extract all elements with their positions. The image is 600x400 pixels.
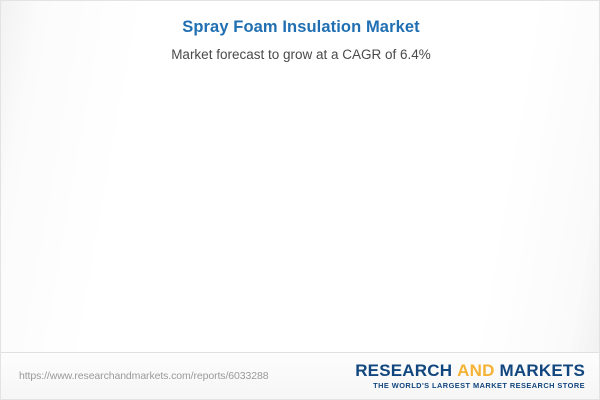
logo-tagline: THE WORLD'S LARGEST MARKET RESEARCH STOR…: [355, 381, 585, 391]
logo-word-and: AND: [457, 361, 494, 380]
logo-word-markets: MARKETS: [500, 361, 585, 380]
logo-word-research: RESEARCH: [355, 361, 452, 380]
research-and-markets-logo[interactable]: RESEARCH AND MARKETS THE WORLD'S LARGEST…: [355, 361, 585, 391]
chart-plot-area: USD 2.59 Billion 2026 USD 3.32 Billion: [1, 1, 600, 353]
infographic-card: Spray Foam Insulation Market Market fore…: [0, 0, 600, 400]
logo-wordmark: RESEARCH AND MARKETS: [355, 361, 585, 380]
footer-bar: https://www.researchandmarkets.com/repor…: [1, 352, 600, 399]
report-url-link[interactable]: https://www.researchandmarkets.com/repor…: [19, 370, 268, 382]
